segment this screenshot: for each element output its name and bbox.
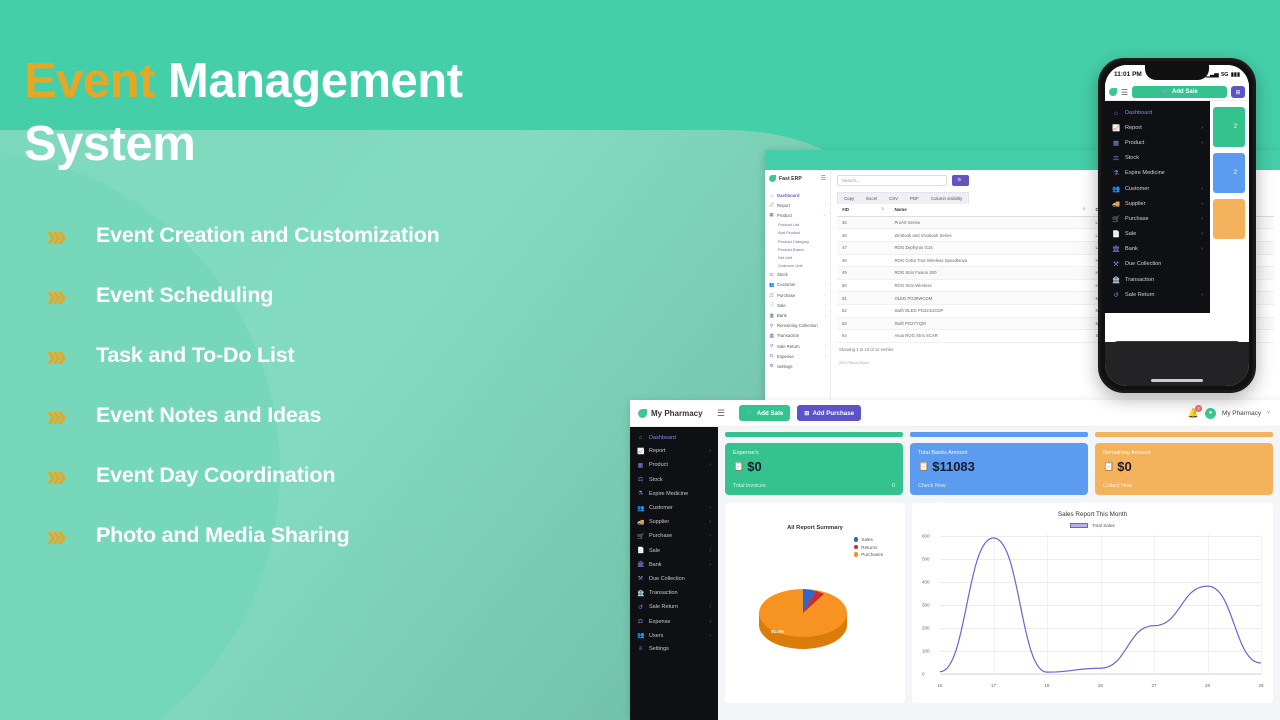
cart-icon: 🛒 bbox=[769, 292, 774, 298]
chevron-right-icon: › bbox=[1201, 231, 1203, 237]
sidebar-item-sale[interactable]: 📄Sale› bbox=[630, 544, 718, 558]
leaf-logo-icon bbox=[638, 409, 647, 418]
chart-icon: 📈 bbox=[769, 202, 774, 208]
stat-title: Total Banks Amount bbox=[918, 450, 1080, 456]
erp-subnav-product-brand[interactable]: Product Brand bbox=[765, 245, 830, 253]
add-sale-label: Add Sale bbox=[757, 410, 783, 417]
strip-blue bbox=[910, 432, 1088, 437]
feature-item: ››› Event Notes and Ideas bbox=[24, 385, 624, 445]
users-icon: 👥 bbox=[769, 282, 774, 288]
battery-icon: ▮▮▮ bbox=[1231, 72, 1240, 78]
stat-value-row: 📋 $0 bbox=[1103, 459, 1265, 474]
line-chart-legend: Total Sales bbox=[922, 523, 1263, 528]
export-excel-button[interactable]: Excel bbox=[860, 193, 883, 204]
legend-label: Purchases bbox=[861, 552, 883, 557]
erp-export-toolbar: Copy Excel CSV PDF Column visibility bbox=[837, 192, 969, 204]
sidebar-item-label: Sale bbox=[649, 548, 660, 554]
sort-icon: ⇅ bbox=[1082, 207, 1085, 211]
erp-nav-stock[interactable]: ⚖ Stock bbox=[765, 270, 830, 280]
erp-nav-label: Purchase bbox=[777, 293, 795, 298]
chart-icon: 📈 bbox=[637, 448, 644, 455]
stat-value-row: 📋 $11083 bbox=[918, 459, 1080, 474]
transaction-icon: 🏛 bbox=[769, 333, 774, 339]
erp-subnav-product-category[interactable]: Product Category bbox=[765, 237, 830, 245]
add-purchase-label: Add Purchase bbox=[812, 410, 854, 417]
phone-menu-item-label: Dashboard bbox=[1125, 110, 1152, 116]
leaf-logo-icon bbox=[1109, 88, 1117, 96]
grid-icon: ▦ bbox=[637, 462, 644, 469]
table-cell-name: OLED PG39WCDM bbox=[889, 292, 1090, 305]
stat-card-total-banks[interactable]: Total Banks Amount 📋 $11083 Check Now bbox=[910, 443, 1088, 495]
stat-cards-row: Expense's 📋 $0 Total Invoices 0 Total Ba… bbox=[725, 443, 1273, 495]
table-cell-id: 47 bbox=[837, 241, 889, 254]
sidebar-item-product[interactable]: ▦Product› bbox=[630, 458, 718, 472]
page-title: Event Management System bbox=[24, 50, 624, 175]
phone-menu-item-label: Transaction bbox=[1125, 277, 1154, 283]
phone-menu-item-sale-return[interactable]: ↺Sale Return› bbox=[1105, 287, 1210, 302]
chevron-right-icon: › bbox=[1201, 201, 1203, 207]
stat-title: Expense's bbox=[733, 450, 895, 456]
chevron-right-icon: › bbox=[709, 462, 711, 468]
bank-icon: 🏛 bbox=[637, 561, 644, 568]
erp-sidebar: Fast ERP ☰ ⌂ Dashboard 📈 Report › ▦ Prod… bbox=[765, 170, 831, 402]
erp-nav-label: Product bbox=[777, 213, 792, 218]
legend-item-returns: Returns bbox=[854, 545, 883, 550]
chevron-triple-icon: ››› bbox=[24, 340, 96, 371]
sidebar-item-label: Expense bbox=[649, 619, 670, 625]
user-menu-label[interactable]: My Pharmacy bbox=[1222, 410, 1261, 417]
cart-icon: 🛒 bbox=[746, 409, 754, 417]
erp-search-input[interactable]: Search... bbox=[837, 175, 947, 186]
erp-nav-report[interactable]: 📈 Report › bbox=[765, 200, 830, 210]
chevron-right-icon: › bbox=[1201, 186, 1203, 192]
strip-row bbox=[725, 432, 1273, 437]
transaction-icon: 🏦 bbox=[637, 590, 644, 597]
sidebar-item-customer[interactable]: 👥Customer› bbox=[630, 501, 718, 515]
table-cell-name: Swift PG27YQM bbox=[889, 317, 1090, 330]
search-icon[interactable]: 🔍 bbox=[952, 175, 969, 186]
bell-icon[interactable]: 🔔 2 bbox=[1188, 408, 1199, 419]
table-cell-name: ROG Strix Wireless bbox=[889, 279, 1090, 292]
sidebar-item-label: Expire Medicine bbox=[649, 491, 688, 497]
expense-icon: ⚖ bbox=[637, 618, 644, 625]
stat-card-remaining[interactable]: Remaining Amount 📋 $0 Collect Now bbox=[1095, 443, 1273, 495]
feature-item: ››› Event Creation and Customization bbox=[24, 205, 624, 265]
sidebar-item-expense[interactable]: ⚖Expense› bbox=[630, 614, 718, 628]
pharmacy-sidebar: ⌂Dashboard📈Report›▦Product›⚖Stock⚗Expire… bbox=[630, 427, 718, 720]
chevron-right-icon: › bbox=[1201, 216, 1203, 222]
feature-label: Task and To-Do List bbox=[96, 343, 294, 368]
clipboard-icon: 📋 bbox=[733, 461, 744, 472]
caret-icon: › bbox=[825, 203, 826, 207]
chevron-down-icon: ⌄ bbox=[823, 213, 826, 217]
phone-app-content: 2 2 ⌂Dashboard📈Report›▦Product›⚖Stock⚗Ex… bbox=[1105, 101, 1249, 313]
erp-nav-label: Bank bbox=[777, 313, 787, 318]
hamburger-icon[interactable]: ☰ bbox=[821, 175, 826, 182]
sidebar-item-label: Purchase bbox=[649, 533, 672, 539]
phone-background-cards: 2 2 bbox=[1213, 107, 1245, 245]
phone-menu-item-due-collection[interactable]: ⚒Due Collection bbox=[1105, 257, 1210, 272]
phone-menu-item-report[interactable]: 📈Report› bbox=[1105, 120, 1210, 135]
chevron-right-icon: › bbox=[709, 604, 711, 610]
chevron-right-icon: › bbox=[1201, 292, 1203, 298]
return-icon: ↺ bbox=[769, 343, 774, 349]
legend-swatch bbox=[854, 552, 859, 557]
caret-icon: › bbox=[825, 354, 826, 358]
sidebar-item-label: Due Collection bbox=[649, 576, 685, 582]
plus-box-icon: ⊞ bbox=[804, 410, 809, 417]
phone-add-sale-button[interactable]: 🛒 Add Sale bbox=[1132, 86, 1227, 98]
erp-nav-settings[interactable]: ⚙ Settings bbox=[765, 361, 830, 371]
title-line-2: System bbox=[24, 117, 195, 171]
phone-app-topbar: ☰ 🛒 Add Sale ⊞ bbox=[1105, 84, 1249, 101]
pie-data-label: 91.4% bbox=[771, 629, 784, 634]
sidebar-item-label: Transaction bbox=[649, 590, 678, 596]
legend-swatch bbox=[1070, 523, 1088, 528]
chevron-right-icon: › bbox=[1201, 125, 1203, 131]
export-csv-button[interactable]: CSV bbox=[883, 193, 904, 204]
chevron-right-icon: › bbox=[709, 505, 711, 511]
cart-icon: 🛒 bbox=[1162, 89, 1169, 96]
sidebar-item-label: Sale Return bbox=[649, 604, 678, 610]
return-icon: ↺ bbox=[1112, 291, 1120, 299]
phone-screen: 11:01 PM ▁▃▅ 5G ▮▮▮ ☰ 🛒 Add Sale ⊞ 2 2 ⌂… bbox=[1105, 65, 1249, 386]
erp-nav-sale[interactable]: 📄 Sale › bbox=[765, 300, 830, 310]
home-icon: ⌂ bbox=[637, 435, 644, 441]
phone-menu-item-expire-medicine[interactable]: ⚗Expire Medicine bbox=[1105, 166, 1210, 181]
sidebar-item-label: Report bbox=[649, 448, 666, 454]
home-indicator bbox=[1151, 379, 1203, 382]
leaf-logo-icon bbox=[769, 175, 776, 182]
table-cell-id: 53 bbox=[837, 317, 889, 330]
erp-brand: Fast ERP ☰ bbox=[765, 172, 830, 185]
erp-nav-label: Sale bbox=[777, 303, 786, 308]
phone-menu-item-label: Purchase bbox=[1125, 216, 1149, 222]
phone-menu-item-label: Expire Medicine bbox=[1125, 170, 1165, 176]
sidebar-item-due-collection[interactable]: ⚒Due Collection bbox=[630, 572, 718, 586]
table-cell-id: 48 bbox=[837, 254, 889, 267]
pharmacy-brand: My Pharmacy bbox=[630, 409, 715, 418]
erp-subnav-set-unit[interactable]: Set Unit bbox=[765, 253, 830, 261]
erp-nav-remaining-collection[interactable]: ⚲ Remaining Collection bbox=[765, 321, 830, 331]
network-label: 5G bbox=[1221, 72, 1228, 78]
chevron-right-icon: › bbox=[709, 448, 711, 454]
truck-icon: 🚚 bbox=[637, 519, 644, 526]
feature-label: Photo and Media Sharing bbox=[96, 523, 349, 548]
erp-nav-label: Remaining Collection bbox=[777, 323, 818, 328]
phone-menu-item-product[interactable]: ▦Product› bbox=[1105, 135, 1210, 150]
stat-footer-right: 0 bbox=[892, 483, 895, 489]
table-cell-id: 52 bbox=[837, 304, 889, 317]
chevron-right-icon: › bbox=[709, 533, 711, 539]
stock-icon: ⚖ bbox=[769, 272, 774, 278]
table-cell-id: 45 bbox=[837, 216, 889, 229]
expense-icon: ⚖ bbox=[769, 353, 774, 359]
hamburger-icon[interactable]: ☰ bbox=[717, 408, 725, 419]
phone-card-orange[interactable] bbox=[1213, 199, 1245, 239]
phone-menu-item-purchase[interactable]: 🛒Purchase› bbox=[1105, 211, 1210, 226]
chevron-triple-icon: ››› bbox=[24, 220, 96, 251]
column-visibility-button[interactable]: Column visibility bbox=[925, 193, 968, 204]
line-chart-title: Sales Report This Month bbox=[922, 511, 1263, 518]
notification-badge: 2 bbox=[1195, 405, 1202, 412]
users-icon: 👥 bbox=[637, 505, 644, 512]
phone-menu-item-customer[interactable]: 👥Customer› bbox=[1105, 181, 1210, 196]
legend-label: Returns bbox=[861, 545, 877, 550]
table-cell-name: Asus ROG Strix SCAR bbox=[889, 330, 1090, 343]
erp-nav-label: Settings bbox=[777, 364, 793, 369]
return-icon: ↺ bbox=[637, 604, 644, 611]
chevron-triple-icon: ››› bbox=[24, 280, 96, 311]
table-cell-name: ROG Zephyrus G14 bbox=[889, 241, 1090, 254]
erp-nav-label: Dashboard bbox=[777, 193, 799, 198]
chevron-triple-icon: ››› bbox=[24, 520, 96, 551]
transaction-icon: 🏦 bbox=[1112, 276, 1120, 284]
stock-icon: ⚖ bbox=[1112, 154, 1120, 162]
bank-icon: 🏛 bbox=[1112, 245, 1120, 253]
erp-nav-label: Customer bbox=[777, 282, 796, 287]
grid-icon: ▦ bbox=[769, 212, 774, 218]
stat-value: $11083 bbox=[932, 459, 975, 474]
strip-green bbox=[725, 432, 903, 437]
phone-menu-item-label: Sale bbox=[1125, 231, 1136, 237]
erp-nav-expense[interactable]: ⚖ Expense › bbox=[765, 351, 830, 361]
erp-nav-label: Expense bbox=[777, 354, 794, 359]
sidebar-item-label: Supplier bbox=[649, 519, 669, 525]
pie-chart-panel: All Report Summary Sales Returns Purc bbox=[725, 503, 905, 703]
pharmacy-header: My Pharmacy ☰ 🛒 Add Sale ⊞ Add Purchase … bbox=[630, 400, 1280, 427]
feature-label: Event Scheduling bbox=[96, 283, 273, 308]
phone-card-green[interactable]: 2 bbox=[1213, 107, 1245, 147]
status-time: 11:01 PM bbox=[1114, 71, 1142, 78]
col-name[interactable]: Name⇅ bbox=[889, 204, 1090, 216]
pie-chart-legend: Sales Returns Purchases bbox=[854, 537, 883, 560]
sidebar-item-label: Stock bbox=[649, 477, 663, 483]
users-icon: 👥 bbox=[1112, 185, 1120, 193]
pharmacy-actions: 🛒 Add Sale ⊞ Add Purchase bbox=[739, 405, 861, 421]
stat-title: Remaining Amount bbox=[1103, 450, 1265, 456]
chevron-right-icon: › bbox=[709, 519, 711, 525]
erp-nav-product[interactable]: ▦ Product ⌄ bbox=[765, 210, 830, 220]
legend-item-purchases: Purchases bbox=[854, 552, 883, 557]
caret-icon: › bbox=[825, 314, 826, 318]
title-accent-word: Event bbox=[24, 54, 155, 108]
erp-nav-dashboard[interactable]: ⌂ Dashboard bbox=[765, 191, 830, 200]
erp-subnav-add-product[interactable]: Add Product bbox=[765, 229, 830, 237]
feature-label: Event Notes and Ideas bbox=[96, 403, 321, 428]
stat-value: $0 bbox=[747, 459, 761, 474]
phone-menu-item-transaction[interactable]: 🏦Transaction bbox=[1105, 272, 1210, 287]
pharmacy-main-content: Expense's 📋 $0 Total Invoices 0 Total Ba… bbox=[718, 427, 1280, 720]
sidebar-item-expire-medicine[interactable]: ⚗Expire Medicine bbox=[630, 487, 718, 501]
phone-add-purchase-button[interactable]: ⊞ bbox=[1231, 86, 1245, 98]
legend-label: Sales bbox=[861, 537, 873, 542]
chevron-triple-icon: ››› bbox=[24, 400, 96, 431]
caret-icon: › bbox=[825, 344, 826, 348]
caret-icon: › bbox=[825, 303, 826, 307]
cart-icon: 🛒 bbox=[1112, 215, 1120, 223]
pie-chart-title: All Report Summary bbox=[733, 525, 897, 531]
erp-nav-label: Transaction bbox=[777, 333, 799, 338]
chevron-right-icon: › bbox=[709, 562, 711, 568]
erp-nav-sale-return[interactable]: ↺ Sale Return › bbox=[765, 341, 830, 351]
sidebar-item-report[interactable]: 📈Report› bbox=[630, 444, 718, 458]
phone-menu-item-sale[interactable]: 📄Sale› bbox=[1105, 227, 1210, 242]
truck-icon: 🚚 bbox=[1112, 200, 1120, 208]
table-cell-name: ROG Cetra True Wireless SpeedNova bbox=[889, 254, 1090, 267]
title-rest: Management bbox=[155, 54, 463, 108]
sidebar-item-label: Dashboard bbox=[649, 435, 676, 441]
caret-icon: › bbox=[825, 283, 826, 287]
erp-nav-bank[interactable]: 🏦 Bank › bbox=[765, 310, 830, 320]
chevron-right-icon: › bbox=[709, 633, 711, 639]
phone-menu-item-label: Stock bbox=[1125, 155, 1139, 161]
pharmacy-user-area: 🔔 2 ● My Pharmacy ˅ bbox=[1188, 408, 1280, 419]
phone-dropdown-menu: ⌂Dashboard📈Report›▦Product›⚖Stock⚗Expire… bbox=[1105, 101, 1210, 313]
home-icon: ⌂ bbox=[769, 193, 774, 198]
phone-menu-item-dashboard[interactable]: ⌂Dashboard bbox=[1105, 106, 1210, 120]
erp-nav-label: Report bbox=[777, 203, 790, 208]
phone-menu-item-label: Customer bbox=[1125, 186, 1149, 192]
table-cell-id: 46 bbox=[837, 229, 889, 242]
erp-nav: ⌂ Dashboard 📈 Report › ▦ Product ⌄ Produ… bbox=[765, 191, 830, 372]
table-cell-name: Zenbook and Vivobook Series bbox=[889, 229, 1090, 242]
stat-footer: Total Invoices bbox=[733, 483, 766, 489]
stat-value: $0 bbox=[1117, 459, 1131, 474]
collect-icon: ⚒ bbox=[637, 575, 644, 582]
cart-icon: 🛒 bbox=[637, 533, 644, 540]
chevron-right-icon: › bbox=[709, 619, 711, 625]
stat-value-row: 📋 $0 bbox=[733, 459, 895, 474]
promo-panel: Event Management System ››› Event Creati… bbox=[24, 50, 624, 565]
collect-icon: ⚒ bbox=[1112, 260, 1120, 268]
phone-menu-item-label: Due Collection bbox=[1125, 261, 1161, 267]
legend-item-sales: Sales bbox=[854, 537, 883, 542]
phone-card-blue[interactable]: 2 bbox=[1213, 153, 1245, 193]
line-chart-plot: 010020030040050060016171826272829 bbox=[922, 534, 1263, 686]
stat-footer-link[interactable]: Check Now bbox=[918, 483, 946, 489]
phone-menu-item-label: Supplier bbox=[1125, 201, 1146, 207]
sidebar-item-bank[interactable]: 🏛Bank› bbox=[630, 558, 718, 572]
sidebar-item-users[interactable]: 👥Users› bbox=[630, 629, 718, 643]
erp-subnav-product-list[interactable]: Product List bbox=[765, 221, 830, 229]
strip-orange bbox=[1095, 432, 1273, 437]
bank-icon: 🏦 bbox=[769, 313, 774, 319]
erp-subnav-codmum-unit[interactable]: Codmum Unit bbox=[765, 262, 830, 270]
legend-swatch bbox=[854, 537, 859, 542]
phone-add-sale-label: Add Sale bbox=[1172, 89, 1198, 95]
clipboard-icon: 📋 bbox=[918, 461, 929, 472]
pill-icon: ⚗ bbox=[637, 490, 644, 497]
home-icon: ⌂ bbox=[1112, 110, 1120, 117]
sidebar-item-sale-return[interactable]: ↺Sale Return› bbox=[630, 600, 718, 614]
clipboard-icon: 📋 bbox=[1103, 461, 1114, 472]
chevron-down-icon[interactable]: ˅ bbox=[1267, 410, 1270, 416]
feature-item: ››› Event Day Coordination bbox=[24, 445, 624, 505]
sale-icon: 📄 bbox=[1112, 230, 1120, 238]
pharmacy-brand-label: My Pharmacy bbox=[651, 409, 703, 418]
sidebar-item-label: Settings bbox=[649, 646, 669, 652]
export-copy-button[interactable]: Copy bbox=[838, 193, 860, 204]
pharmacy-dashboard-screenshot: My Pharmacy ☰ 🛒 Add Sale ⊞ Add Purchase … bbox=[630, 400, 1280, 720]
feature-label: Event Day Coordination bbox=[96, 463, 335, 488]
grid-icon: ▦ bbox=[1112, 139, 1120, 147]
sidebar-item-transaction[interactable]: 🏦Transaction bbox=[630, 586, 718, 600]
collect-icon: ⚲ bbox=[769, 323, 774, 329]
erp-nav-label: Stock bbox=[777, 272, 788, 277]
sidebar-item-label: Users bbox=[649, 633, 663, 639]
chevron-right-icon: › bbox=[1201, 140, 1203, 146]
card-badge: 2 bbox=[1234, 124, 1237, 130]
chevron-triple-icon: ››› bbox=[24, 460, 96, 491]
feature-item: ››› Event Scheduling bbox=[24, 265, 624, 325]
erp-nav-purchase[interactable]: 🛒 Purchase › bbox=[765, 290, 830, 300]
pie-chart-graphic bbox=[753, 575, 853, 655]
col-id[interactable]: #ID⇅ bbox=[837, 204, 889, 216]
hamburger-icon[interactable]: ☰ bbox=[1121, 88, 1128, 97]
phone-menu-item-label: Bank bbox=[1125, 246, 1138, 252]
phone-menu-item-label: Sale Return bbox=[1125, 292, 1155, 298]
phone-menu-item-label: Report bbox=[1125, 125, 1142, 131]
phone-notch bbox=[1145, 65, 1209, 80]
sidebar-item-dashboard[interactable]: ⌂Dashboard bbox=[630, 431, 718, 444]
stat-card-expenses[interactable]: Expense's 📋 $0 Total Invoices 0 bbox=[725, 443, 903, 495]
table-cell-name: ROG Strix Fusion 300 bbox=[889, 267, 1090, 280]
sidebar-item-stock[interactable]: ⚖Stock bbox=[630, 473, 718, 487]
chevron-right-icon: › bbox=[1201, 246, 1203, 252]
export-pdf-button[interactable]: PDF bbox=[904, 193, 925, 204]
sort-icon: ⇅ bbox=[881, 207, 884, 211]
card-badge: 2 bbox=[1234, 170, 1237, 176]
table-cell-name: Swift OLED PG321UCDP bbox=[889, 304, 1090, 317]
pill-icon: ⚗ bbox=[1112, 169, 1120, 177]
phone-menu-item-stock[interactable]: ⚖Stock bbox=[1105, 151, 1210, 166]
feature-item: ››› Photo and Media Sharing bbox=[24, 505, 624, 565]
add-purchase-button[interactable]: ⊞ Add Purchase bbox=[797, 405, 861, 421]
phone-menu-item-supplier[interactable]: 🚚Supplier› bbox=[1105, 196, 1210, 211]
feature-label: Event Creation and Customization bbox=[96, 223, 440, 248]
iphone-mockup: 11:01 PM ▁▃▅ 5G ▮▮▮ ☰ 🛒 Add Sale ⊞ 2 2 ⌂… bbox=[1098, 58, 1256, 393]
table-cell-id: 49 bbox=[837, 267, 889, 280]
phone-menu-item-bank[interactable]: 🏛Bank› bbox=[1105, 242, 1210, 257]
avatar[interactable]: ● bbox=[1205, 408, 1216, 419]
settings-icon: ≡ bbox=[637, 646, 644, 652]
table-cell-id: 54 bbox=[837, 330, 889, 343]
line-chart-panel: Sales Report This Month Total Sales 0100… bbox=[912, 503, 1273, 703]
users-icon: 👥 bbox=[637, 632, 644, 639]
status-indicators: ▁▃▅ 5G ▮▮▮ bbox=[1206, 72, 1240, 78]
sidebar-item-settings[interactable]: ≡Settings bbox=[630, 643, 718, 656]
sidebar-item-label: Bank bbox=[649, 562, 662, 568]
sidebar-item-purchase[interactable]: 🛒Purchase› bbox=[630, 529, 718, 543]
erp-brand-label: Fast ERP bbox=[779, 176, 802, 182]
table-cell-id: 50 bbox=[837, 279, 889, 292]
erp-nav-customer[interactable]: 👥 Customer › bbox=[765, 280, 830, 290]
add-sale-button[interactable]: 🛒 Add Sale bbox=[739, 405, 790, 421]
erp-nav-label: Sale Return bbox=[777, 344, 800, 349]
stock-icon: ⚖ bbox=[637, 476, 644, 483]
chart-icon: 📈 bbox=[1112, 124, 1120, 132]
chevron-right-icon: › bbox=[709, 548, 711, 554]
settings-icon: ⚙ bbox=[769, 363, 774, 369]
legend-swatch bbox=[854, 545, 859, 550]
sidebar-item-label: Product bbox=[649, 462, 668, 468]
feature-item: ››› Task and To-Do List bbox=[24, 325, 624, 385]
erp-nav-transaction[interactable]: 🏛 Transaction bbox=[765, 331, 830, 341]
phone-menu-item-label: Product bbox=[1125, 140, 1144, 146]
stat-footer-link[interactable]: Collect Now bbox=[1103, 483, 1132, 489]
sidebar-item-supplier[interactable]: 🚚Supplier› bbox=[630, 515, 718, 529]
